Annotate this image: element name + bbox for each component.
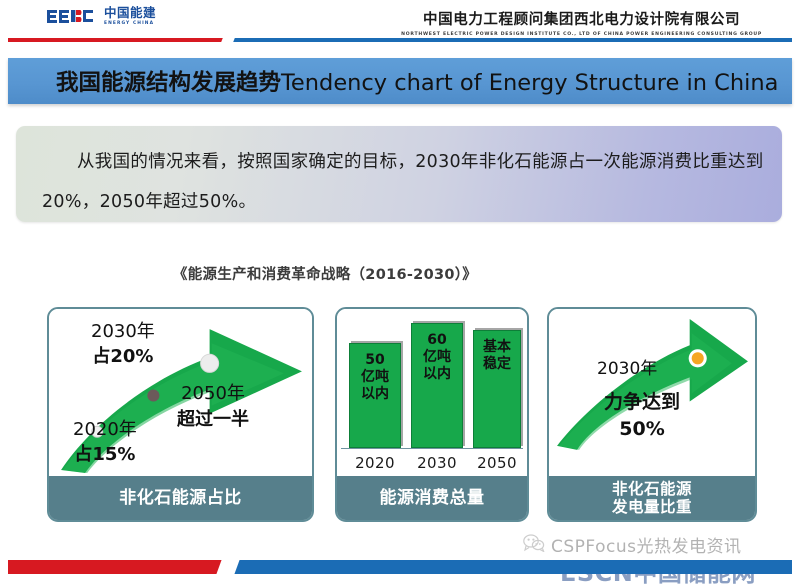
bar-2030: 60 亿吨 以内: [411, 323, 463, 448]
annotation-generation-target-line2: 50%: [604, 416, 680, 443]
annotation-2020-share-value: 占15%: [73, 442, 137, 467]
panel-total-consumption: 50 亿吨 以内 60 亿吨 以内 基本 稳定 2020 2030 2050: [335, 307, 529, 522]
bar-2020: 50 亿吨 以内: [349, 343, 401, 448]
annotation-generation-target-line1: 力争达到: [604, 389, 680, 416]
organization-name-cn: 中国电力工程顾问集团西北电力设计院有限公司: [401, 8, 762, 29]
panel-non-fossil-share-footer: 非化石能源占比: [49, 476, 312, 520]
footer-rule-blue: [232, 560, 792, 574]
footer-rule-red: [8, 560, 230, 574]
annotation-2030-share: 2030年 占20%: [91, 319, 155, 369]
company-logo: 中国能建 ENERGY CHINA: [45, 7, 156, 26]
organization-name: 中国电力工程顾问集团西北电力设计院有限公司 NORTHWEST ELECTRIC…: [401, 8, 762, 37]
organization-name-en: NORTHWEST ELECTRIC POWER DESIGN INSTITUT…: [401, 32, 762, 37]
watermark-wechat-text: CSPFocus光热发电资讯: [551, 532, 741, 557]
panel-group: 2030年 占20% 2050年 超过一半 2020年 占15% 非化石能源占比: [47, 307, 757, 522]
annotation-2030-generation-target: 力争达到 50%: [604, 389, 680, 443]
summary-note-text: 从我国的情况来看，按照国家确定的目标，2030年非化石能源占一次能源消费比重达到…: [42, 142, 766, 222]
annotation-2020-share: 2020年 占15%: [73, 417, 137, 467]
header-rule-red: [8, 38, 230, 42]
page-title-cn: 我国能源结构发展趋势: [56, 70, 281, 96]
x-tick-2030: 2030: [407, 454, 467, 472]
panel-power-generation-share-footer: 非化石能源 发电量比重: [549, 476, 755, 520]
annotation-2030-share-year: 2030年: [91, 319, 155, 344]
logo-cn-name: 中国能建: [104, 7, 156, 20]
page-title-bar: 我国能源结构发展趋势Tendency chart of Energy Struc…: [8, 58, 792, 104]
header-rule-notch: [220, 36, 235, 44]
summary-note-box: 从我国的情况来看，按照国家确定的目标，2030年非化石能源占一次能源消费比重达到…: [16, 126, 782, 222]
annotation-2050-share-year: 2050年: [177, 381, 249, 407]
chart-caption: 《能源生产和消费革命战略（2016-2030）》: [0, 263, 800, 284]
wechat-icon: [523, 534, 545, 556]
bar-chart-x-axis: 2020 2030 2050: [337, 450, 527, 472]
panel-power-generation-share-body: 2030年 力争达到 50%: [549, 309, 755, 476]
bar-chart: 50 亿吨 以内 60 亿吨 以内 基本 稳定 2020 2030 2050: [337, 309, 527, 476]
panel-power-generation-share-label: 非化石能源 发电量比重: [612, 480, 692, 516]
panel-total-consumption-label: 能源消费总量: [380, 489, 485, 508]
header-rule-blue: [232, 38, 792, 42]
x-tick-2050: 2050: [467, 454, 527, 472]
panel-power-generation-share-label-line1: 非化石能源: [612, 480, 692, 498]
panel-non-fossil-share-label: 非化石能源占比: [119, 489, 242, 508]
page-title: 我国能源结构发展趋势Tendency chart of Energy Struc…: [56, 65, 778, 97]
logo-text-block: 中国能建 ENERGY CHINA: [104, 7, 156, 26]
panel-non-fossil-share-body: 2030年 占20% 2050年 超过一半 2020年 占15%: [49, 309, 312, 476]
annotation-2030-generation-year-text: 2030年: [597, 357, 657, 381]
annotation-2030-share-value: 占20%: [91, 344, 155, 369]
slide-header: 中国能建 ENERGY CHINA 中国电力工程顾问集团西北电力设计院有限公司 …: [0, 0, 800, 50]
annotation-2050-share-value: 超过一半: [177, 407, 249, 433]
annotation-2030-generation-year: 2030年: [597, 357, 657, 381]
panel-non-fossil-share: 2030年 占20% 2050年 超过一半 2020年 占15% 非化石能源占比: [47, 307, 314, 522]
panel-total-consumption-footer: 能源消费总量: [337, 476, 527, 520]
watermark-wechat: CSPFocus光热发电资讯: [523, 532, 741, 557]
ceec-logo-icon: [45, 8, 97, 25]
logo-en-name: ENERGY CHINA: [104, 22, 156, 26]
page-title-en: Tendency chart of Energy Structure in Ch…: [281, 70, 778, 96]
panel-power-generation-share: 2030年 力争达到 50% 非化石能源 发电量比重: [547, 307, 757, 522]
annotation-2050-share: 2050年 超过一半: [177, 381, 249, 433]
chart-caption-text: 《能源生产和消费革命战略（2016-2030）》: [173, 263, 477, 284]
x-tick-2020: 2020: [345, 454, 405, 472]
bar-2050-label: 基本 稳定: [483, 339, 511, 373]
panel-total-consumption-body: 50 亿吨 以内 60 亿吨 以内 基本 稳定 2020 2030 2050: [337, 309, 527, 476]
annotation-2020-share-year: 2020年: [73, 417, 137, 442]
slide-root: 中国能建 ENERGY CHINA 中国电力工程顾问集团西北电力设计院有限公司 …: [0, 0, 800, 588]
bar-2020-label: 50 亿吨 以内: [361, 352, 389, 403]
bar-2050: 基本 稳定: [473, 330, 521, 448]
bar-2030-label: 60 亿吨 以内: [423, 332, 451, 383]
panel-power-generation-share-label-line2: 发电量比重: [612, 498, 692, 516]
